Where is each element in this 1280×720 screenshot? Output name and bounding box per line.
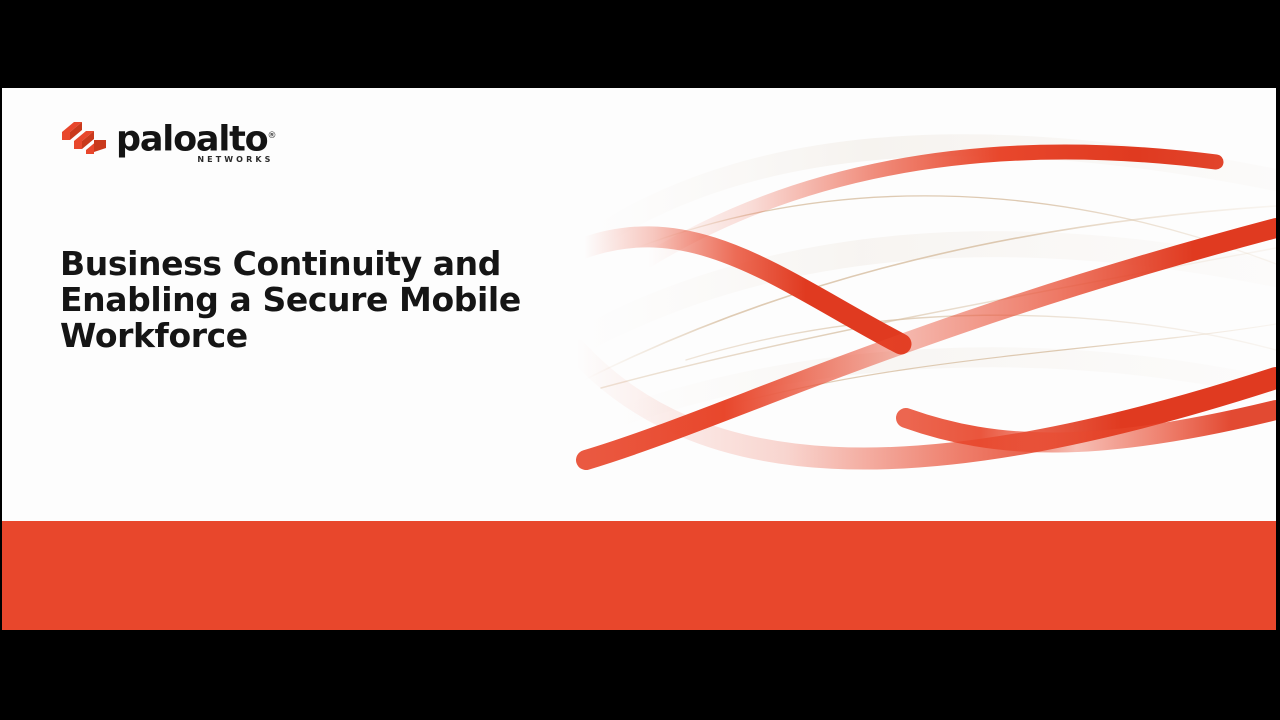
presentation-slide: paloalto® NETWORKS Business Continuity a…	[2, 88, 1276, 630]
footer-accent-band	[2, 521, 1276, 630]
screenshot-viewport: paloalto® NETWORKS Business Continuity a…	[0, 0, 1280, 720]
flowing-ribbon-graphic	[576, 88, 1276, 528]
letterbox-bar-top	[0, 0, 1280, 88]
letterbox-bar-bottom	[0, 630, 1280, 720]
slide-title-line-2: Enabling a Secure Mobile	[60, 282, 660, 318]
slide-title-line-1: Business Continuity and	[60, 246, 660, 282]
registered-trademark-icon: ®	[268, 131, 277, 141]
logo-wordmark-text: paloalto®	[116, 118, 277, 158]
slide-title: Business Continuity and Enabling a Secur…	[60, 246, 660, 354]
slide-title-line-3: Workforce	[60, 318, 660, 354]
logo-wordmark-label: paloalto	[116, 120, 268, 160]
paloalto-networks-logo: paloalto® NETWORKS	[60, 118, 277, 164]
paloalto-networks-logo-mark	[60, 120, 106, 154]
